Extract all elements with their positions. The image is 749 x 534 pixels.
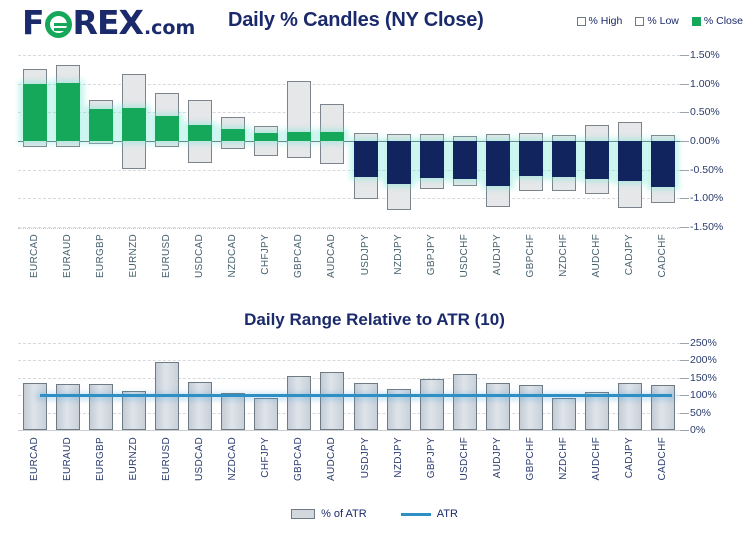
candle bbox=[651, 55, 675, 227]
candles-x-tick-label: EURUSD bbox=[161, 234, 172, 278]
atr-y-tick-icon bbox=[680, 430, 689, 431]
candles-x-tick-label: NZDCHF bbox=[558, 234, 569, 277]
candles-x-tick-label: CHFJPY bbox=[260, 234, 271, 275]
candle-close-up bbox=[254, 133, 278, 141]
legend-swatch-close-icon bbox=[692, 17, 701, 26]
candle-close-up bbox=[89, 109, 113, 141]
atr-x-tick-label: EURGBP bbox=[95, 437, 106, 481]
atr-chart-title: Daily Range Relative to ATR (10) bbox=[0, 310, 749, 330]
atr-y-tick-label: 0% bbox=[690, 424, 705, 436]
candles-y-tick-icon bbox=[680, 84, 689, 85]
candles-x-tick-label: EURNZD bbox=[128, 234, 139, 277]
candles-x-tick-label: GBPJPY bbox=[426, 234, 437, 275]
candles-x-tick-label: USDCHF bbox=[459, 234, 470, 277]
candle-close-up bbox=[221, 129, 245, 141]
atr-bar bbox=[287, 376, 311, 430]
chart-page: F REX .com Daily % Candles (NY Close) % … bbox=[0, 0, 749, 534]
candle bbox=[254, 55, 278, 227]
atr-y-tick-label: 50% bbox=[690, 407, 711, 419]
atr-gridline bbox=[18, 413, 680, 414]
page-header: F REX .com Daily % Candles (NY Close) % … bbox=[0, 0, 749, 42]
candles-x-tick-label: EURGBP bbox=[95, 234, 106, 278]
candles-x-tick-label: NZDCAD bbox=[227, 234, 238, 277]
candle bbox=[221, 55, 245, 227]
candles-gridline bbox=[18, 84, 680, 85]
candle-close-down bbox=[453, 141, 477, 179]
candle bbox=[188, 55, 212, 227]
candle bbox=[23, 55, 47, 227]
candle-close-up bbox=[122, 108, 146, 141]
atr-x-tick-label: NZDJPY bbox=[393, 437, 404, 478]
legend-label-pct-of-atr: % of ATR bbox=[321, 508, 367, 520]
candles-x-tick-label: EURCAD bbox=[29, 234, 40, 278]
candles-x-tick-label: AUDCHF bbox=[591, 234, 602, 277]
atr-y-tick-icon bbox=[680, 413, 689, 414]
atr-y-tick-icon bbox=[680, 360, 689, 361]
candle-close-down bbox=[354, 141, 378, 177]
atr-x-tick-label: GBPJPY bbox=[426, 437, 437, 478]
atr-x-tick-label: CHFJPY bbox=[260, 437, 271, 478]
logo-letters-rex: REX bbox=[73, 6, 143, 39]
logo-dotcom: .com bbox=[144, 17, 195, 39]
atr-x-tick-label: USDCHF bbox=[459, 437, 470, 480]
candles-y-tick-label: 0.50% bbox=[690, 106, 720, 118]
candle-close-up bbox=[287, 132, 311, 141]
legend-label-high: % High bbox=[589, 15, 623, 27]
candle bbox=[354, 55, 378, 227]
atr-gridline bbox=[18, 360, 680, 361]
atr-x-tick-label: AUDJPY bbox=[492, 437, 503, 478]
legend-label-close: % Close bbox=[704, 15, 743, 27]
legend-swatch-high-icon bbox=[577, 17, 586, 26]
candles-y-tick-label: 1.00% bbox=[690, 78, 720, 90]
candle bbox=[420, 55, 444, 227]
candles-x-tick-label: CADJPY bbox=[624, 234, 635, 275]
candle-close-down bbox=[552, 141, 576, 177]
atr-x-tick-label: USDCAD bbox=[194, 437, 205, 481]
candle bbox=[585, 55, 609, 227]
atr-x-tick-label: EURNZD bbox=[128, 437, 139, 480]
atr-y-tick-label: 250% bbox=[690, 337, 717, 349]
atr-y-tick-label: 200% bbox=[690, 354, 717, 366]
atr-x-tick-label: GBPCHF bbox=[525, 437, 536, 480]
candles-y-tick-icon bbox=[680, 170, 689, 171]
atr-plot-area bbox=[18, 343, 680, 430]
candles-y-tick-label: 0.00% bbox=[690, 135, 720, 147]
candle bbox=[453, 55, 477, 227]
candle bbox=[89, 55, 113, 227]
candle bbox=[486, 55, 510, 227]
candle-close-down bbox=[585, 141, 609, 179]
legend-item-close: % Close bbox=[692, 15, 743, 27]
atr-bar bbox=[618, 383, 642, 430]
candle-close-up bbox=[320, 132, 344, 141]
atr-bar bbox=[552, 398, 576, 430]
atr-baseline bbox=[18, 430, 680, 431]
atr-bar bbox=[254, 398, 278, 430]
forex-logo: F REX .com bbox=[22, 6, 195, 39]
candle-close-up bbox=[56, 83, 80, 141]
atr-y-tick-icon bbox=[680, 343, 689, 344]
candle bbox=[387, 55, 411, 227]
atr-x-tick-label: GBPCAD bbox=[293, 437, 304, 481]
atr-y-tick-icon bbox=[680, 395, 689, 396]
candles-x-tick-label: AUDCAD bbox=[326, 234, 337, 278]
atr-y-tick-label: 100% bbox=[690, 389, 717, 401]
atr-x-tick-label: EURUSD bbox=[161, 437, 172, 481]
atr-x-tick-label: EURCAD bbox=[29, 437, 40, 481]
candles-gridline bbox=[18, 55, 680, 56]
candles-plot-area bbox=[18, 55, 680, 227]
atr-gridline bbox=[18, 378, 680, 379]
legend-item-high: % High bbox=[577, 15, 623, 27]
candle-close-down bbox=[618, 141, 642, 181]
candles-y-tick-icon bbox=[680, 227, 689, 228]
atr-bar bbox=[420, 379, 444, 430]
candle bbox=[122, 55, 146, 227]
legend-item-pct-of-atr: % of ATR bbox=[291, 508, 367, 520]
candle-close-up bbox=[188, 125, 212, 141]
candles-x-tick-label: NZDJPY bbox=[393, 234, 404, 275]
candle-close-up bbox=[23, 84, 47, 141]
candle bbox=[320, 55, 344, 227]
legend-item-low: % Low bbox=[635, 15, 679, 27]
atr-bar bbox=[23, 383, 47, 430]
candles-x-tick-label: CADCHF bbox=[657, 234, 668, 277]
candles-gridline bbox=[18, 112, 680, 113]
candles-y-tick-icon bbox=[680, 198, 689, 199]
atr-bar bbox=[519, 385, 543, 430]
atr-bar bbox=[89, 384, 113, 430]
candles-x-tick-label: USDCAD bbox=[194, 234, 205, 278]
candles-y-tick-label: -1.50% bbox=[690, 221, 723, 233]
atr-bar bbox=[56, 384, 80, 430]
legend-label-low: % Low bbox=[647, 15, 679, 27]
atr-bar bbox=[651, 385, 675, 430]
legend-swatch-low-icon bbox=[635, 17, 644, 26]
atr-reference-line bbox=[40, 394, 672, 397]
legend-box-pct-of-atr-icon bbox=[291, 509, 315, 519]
candles-y-tick-icon bbox=[680, 55, 689, 56]
atr-gridline bbox=[18, 343, 680, 344]
atr-y-tick-label: 150% bbox=[690, 372, 717, 384]
candle bbox=[56, 55, 80, 227]
candle-high-low-range bbox=[287, 81, 311, 158]
atr-bar bbox=[486, 383, 510, 430]
legend-line-atr-icon bbox=[401, 513, 431, 516]
candles-legend: % High % Low % Close bbox=[577, 15, 743, 27]
atr-y-tick-icon bbox=[680, 378, 689, 379]
atr-legend: % of ATR ATR bbox=[0, 508, 749, 520]
page-title: Daily % Candles (NY Close) bbox=[228, 9, 484, 32]
atr-bar bbox=[354, 383, 378, 430]
candle-close-up bbox=[155, 116, 179, 141]
atr-bar bbox=[453, 374, 477, 430]
candle bbox=[155, 55, 179, 227]
candles-gridline bbox=[18, 170, 680, 171]
candles-x-tick-label: GBPCHF bbox=[525, 234, 536, 277]
candles-x-tick-label: USDJPY bbox=[360, 234, 371, 275]
candle-close-down bbox=[519, 141, 543, 176]
candles-zero-line bbox=[18, 141, 680, 142]
atr-x-tick-label: EURAUD bbox=[62, 437, 73, 481]
candles-x-tick-label: AUDJPY bbox=[492, 234, 503, 275]
candle bbox=[618, 55, 642, 227]
logo-letter-f: F bbox=[22, 6, 44, 39]
candle-close-down bbox=[486, 141, 510, 186]
candles-y-tick-icon bbox=[680, 141, 689, 142]
atr-x-tick-label: AUDCHF bbox=[591, 437, 602, 480]
candles-y-tick-label: 1.50% bbox=[690, 49, 720, 61]
atr-x-tick-label: USDJPY bbox=[360, 437, 371, 478]
candle-close-down bbox=[420, 141, 444, 178]
legend-label-atr: ATR bbox=[437, 508, 458, 520]
atr-x-tick-label: CADCHF bbox=[657, 437, 668, 480]
atr-x-tick-label: CADJPY bbox=[624, 437, 635, 478]
atr-x-tick-label: NZDCAD bbox=[227, 437, 238, 480]
legend-item-atr: ATR bbox=[401, 508, 458, 520]
candle-close-down bbox=[387, 141, 411, 184]
candles-x-tick-label: EURAUD bbox=[62, 234, 73, 278]
candles-y-tick-label: -0.50% bbox=[690, 164, 723, 176]
candle bbox=[552, 55, 576, 227]
candles-y-tick-icon bbox=[680, 112, 689, 113]
candle bbox=[287, 55, 311, 227]
atr-x-tick-label: NZDCHF bbox=[558, 437, 569, 480]
candles-y-tick-label: -1.00% bbox=[690, 192, 723, 204]
atr-x-tick-label: AUDCAD bbox=[326, 437, 337, 481]
candles-x-axis bbox=[18, 228, 680, 229]
candles-x-tick-label: GBPCAD bbox=[293, 234, 304, 278]
atr-bar bbox=[188, 382, 212, 430]
atr-bar bbox=[320, 372, 344, 430]
candle-close-down bbox=[651, 141, 675, 187]
logo-euro-o-icon bbox=[45, 11, 72, 38]
candles-gridline bbox=[18, 198, 680, 199]
candle bbox=[519, 55, 543, 227]
